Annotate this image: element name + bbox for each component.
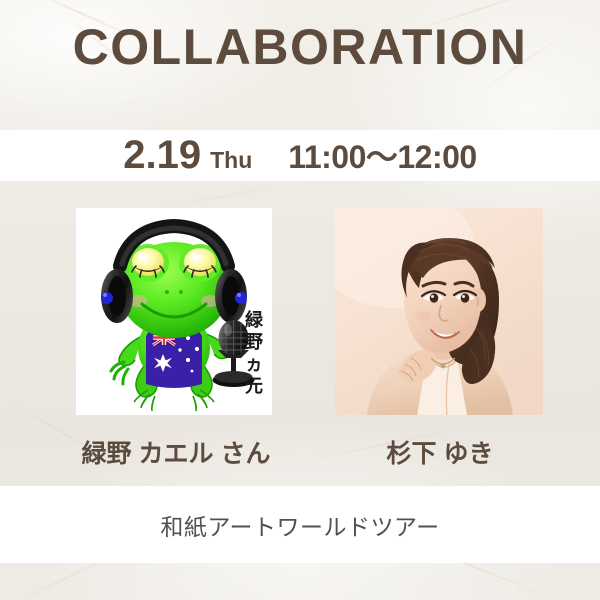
- page-title: COLLABORATION: [0, 22, 600, 72]
- event-day-of-week: Thu: [210, 135, 252, 186]
- frog-mascot-illustration: 緑 野 ヵ 元: [76, 208, 272, 415]
- svg-text:野: 野: [245, 332, 263, 353]
- event-time-range: 11:00〜12:00: [288, 132, 476, 183]
- svg-text:元: 元: [245, 376, 263, 397]
- guest-images-row: 緑 野 ヵ 元: [0, 208, 600, 416]
- guest-name-right: 杉下 ゆき: [330, 438, 550, 470]
- collaboration-poster: COLLABORATION 2.19 Thu 11:00〜12:00: [0, 0, 600, 600]
- guest-name-left: 緑野 カエル さん: [56, 438, 296, 470]
- guest-image-portrait: [335, 208, 543, 415]
- svg-text:ヵ: ヵ: [245, 354, 263, 375]
- guest-image-frog: 緑 野 ヵ 元: [76, 208, 272, 415]
- marble-vein: [161, 186, 279, 208]
- woman-portrait-photo: [335, 208, 543, 415]
- schedule-row: 2.19 Thu 11:00〜12:00: [0, 130, 600, 181]
- event-date: 2.19: [123, 130, 201, 181]
- event-note: 和紙アートワールドツアー: [0, 486, 600, 563]
- svg-text:緑: 緑: [245, 309, 264, 331]
